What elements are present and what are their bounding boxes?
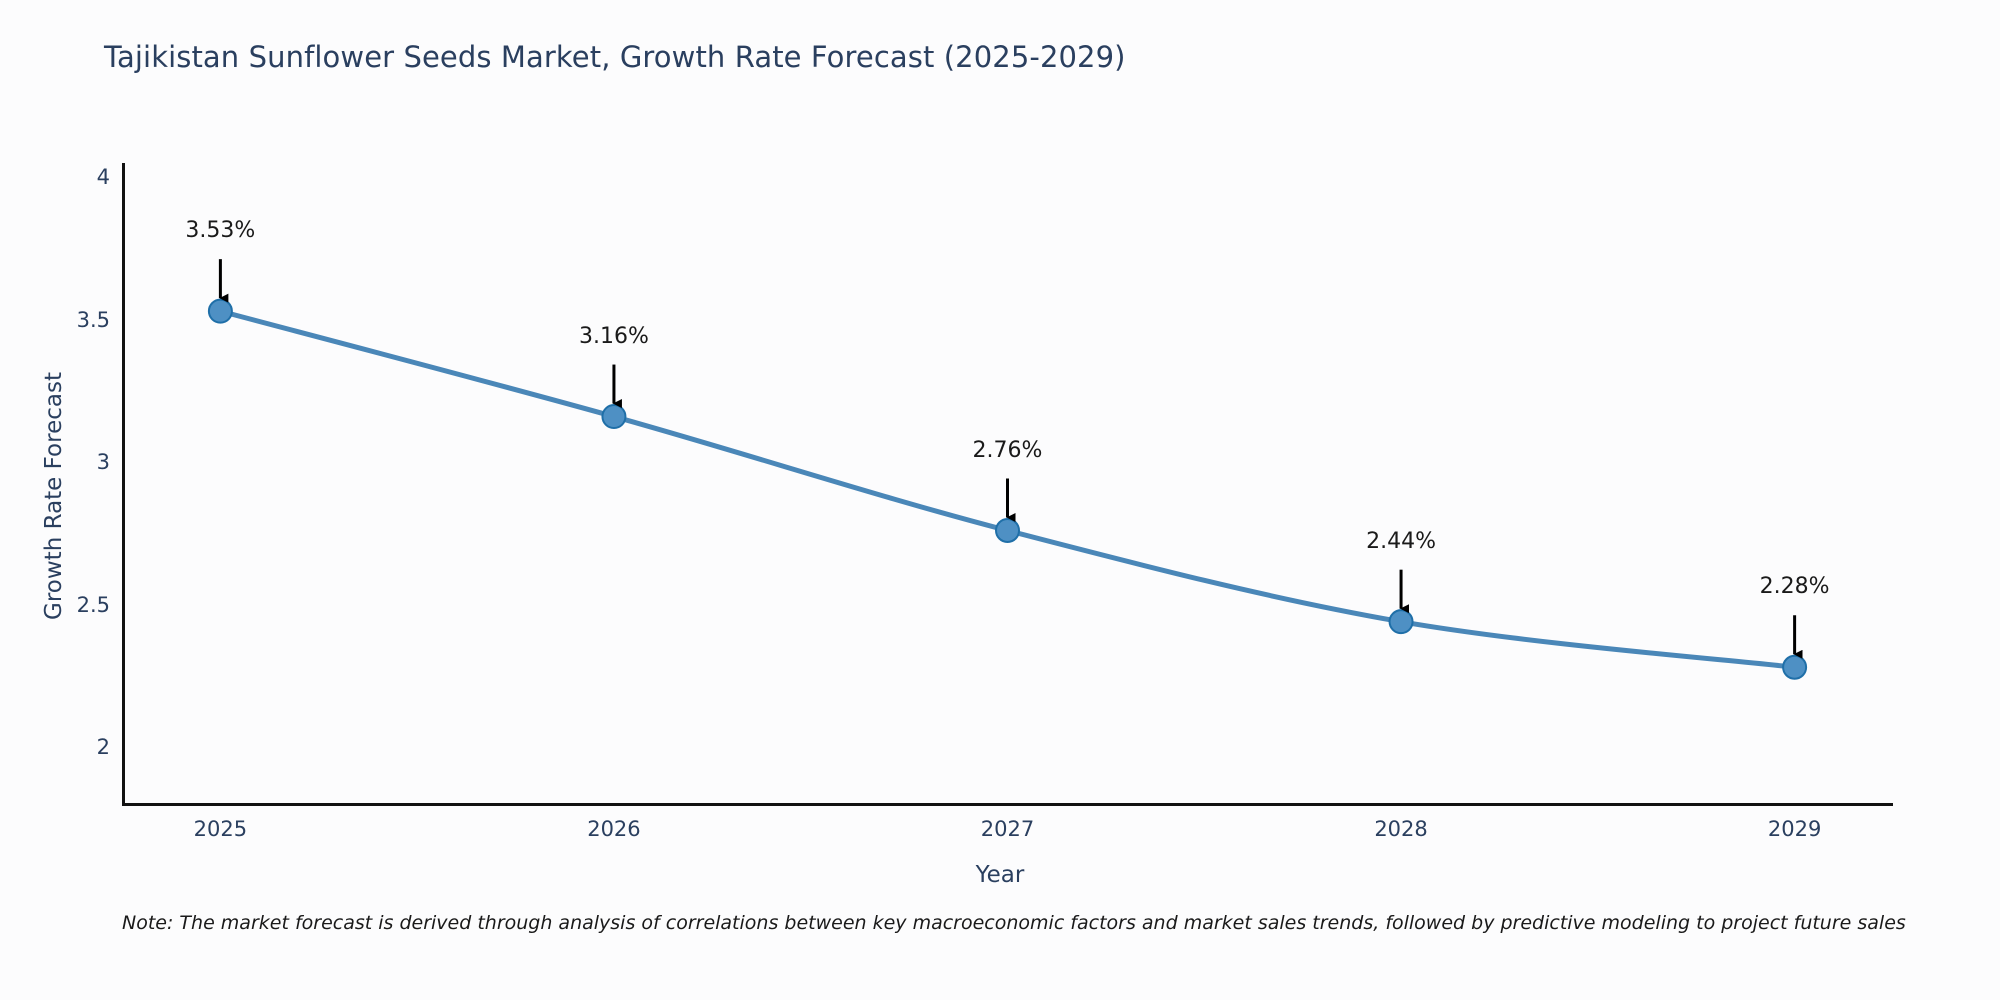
data-point-marker[interactable] xyxy=(996,519,1019,542)
chart-page: Tajikistan Sunflower Seeds Market, Growt… xyxy=(0,0,2000,1000)
chart-plot xyxy=(0,0,2000,1000)
data-point-marker[interactable] xyxy=(209,300,232,323)
data-point-value-label: 2.76% xyxy=(973,438,1043,463)
data-point-value-label: 2.44% xyxy=(1366,529,1436,554)
data-point-value-label: 3.16% xyxy=(579,324,649,349)
data-point-marker[interactable] xyxy=(602,405,625,428)
data-point-marker[interactable] xyxy=(1390,610,1413,633)
data-point-value-label: 2.28% xyxy=(1760,574,1830,599)
data-point-value-label: 3.53% xyxy=(185,218,255,243)
y-axis-title: Growth Rate Forecast xyxy=(41,196,67,796)
x-axis-title: Year xyxy=(0,862,2000,888)
data-point-marker[interactable] xyxy=(1783,656,1806,679)
chart-note: Note: The market forecast is derived thr… xyxy=(122,912,1906,934)
